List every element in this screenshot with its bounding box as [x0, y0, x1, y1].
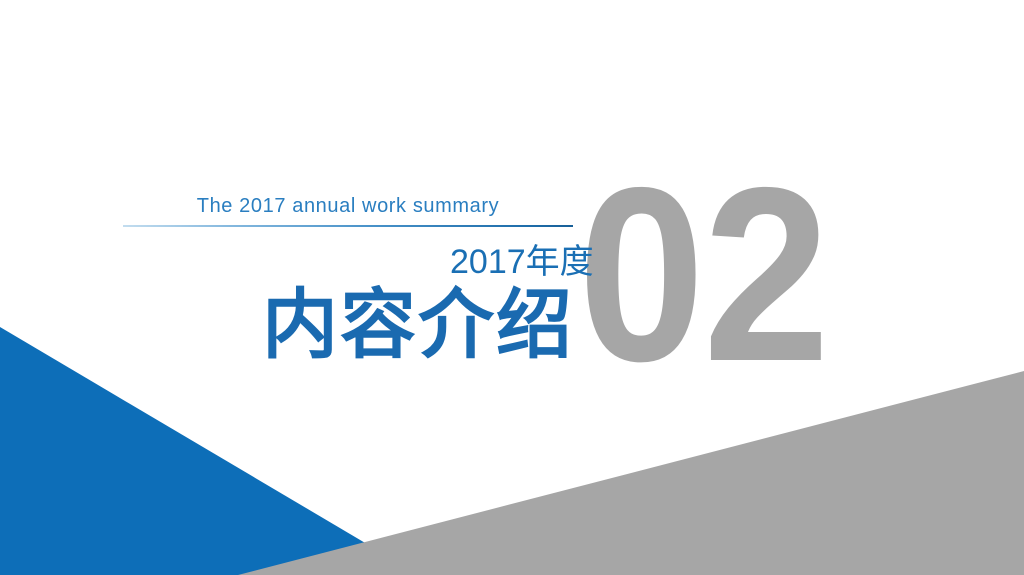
- eyebrow-text: The 2017 annual work summary: [123, 196, 573, 225]
- divider-rule: [123, 225, 573, 227]
- sub-title: 2017年度: [450, 245, 570, 279]
- header-block: The 2017 annual work summary: [123, 196, 573, 227]
- section-number: 02: [578, 150, 828, 398]
- page-title: 内容介绍: [240, 286, 574, 366]
- slide-canvas: 02 The 2017 annual work summary 2017年度 内…: [0, 0, 1024, 575]
